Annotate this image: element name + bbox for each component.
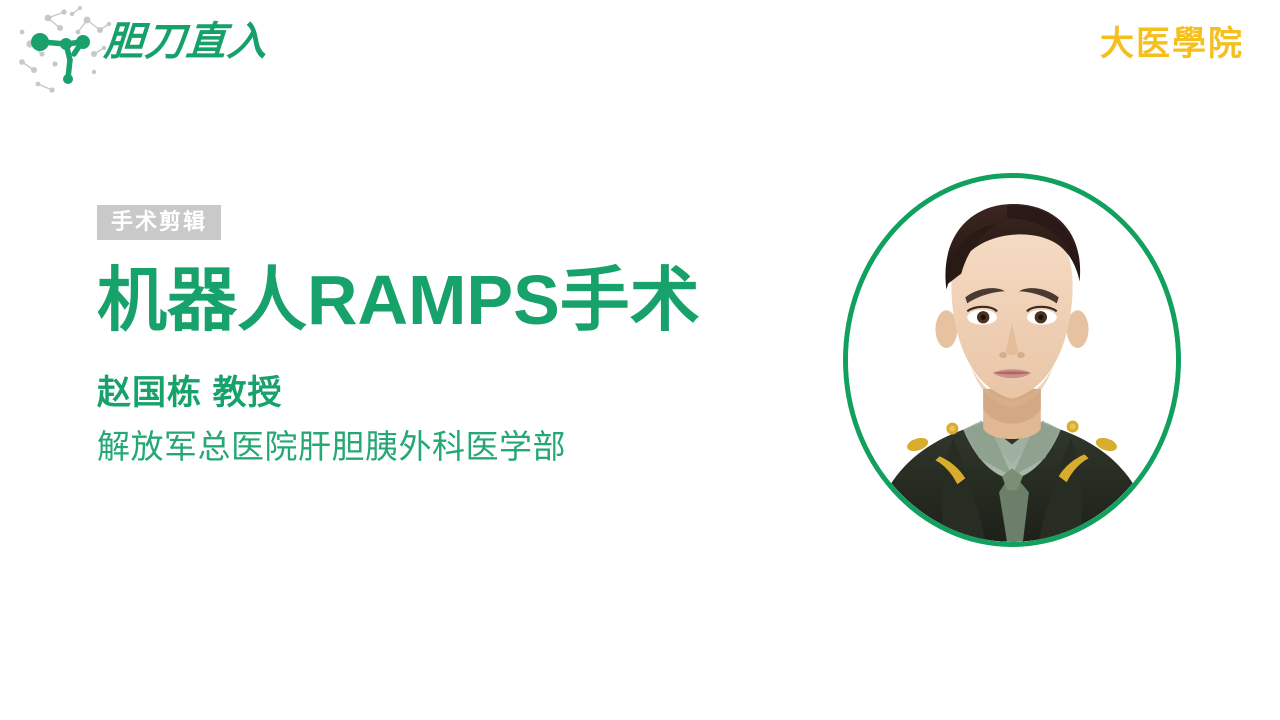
academy-logo-text: 大医學院 bbox=[1100, 27, 1244, 61]
brand-wordmark: 胆刀直入 bbox=[104, 14, 268, 70]
brand-wordmark-text: 胆刀直入 bbox=[103, 22, 270, 62]
page-title: 机器人RAMPS手术 bbox=[97, 265, 797, 335]
presenter-name: 赵国栋 教授 bbox=[97, 375, 797, 412]
academy-logo: 大医學院 bbox=[1100, 20, 1244, 68]
avatar bbox=[848, 178, 1176, 542]
presenter-portrait-frame bbox=[843, 173, 1181, 547]
category-badge: 手术剪辑 bbox=[97, 205, 221, 240]
network-nodes-icon bbox=[8, 2, 118, 102]
presenter-affiliation: 解放军总医院肝胆胰外科医学部 bbox=[97, 428, 797, 466]
lecture-title-slide: 胆刀直入 大医學院 手术剪辑 机器人RAMPS手术 赵国栋 教授 解放军总医院肝… bbox=[0, 0, 1280, 720]
lecture-info-block: 手术剪辑 机器人RAMPS手术 赵国栋 教授 解放军总医院肝胆胰外科医学部 bbox=[97, 205, 797, 466]
